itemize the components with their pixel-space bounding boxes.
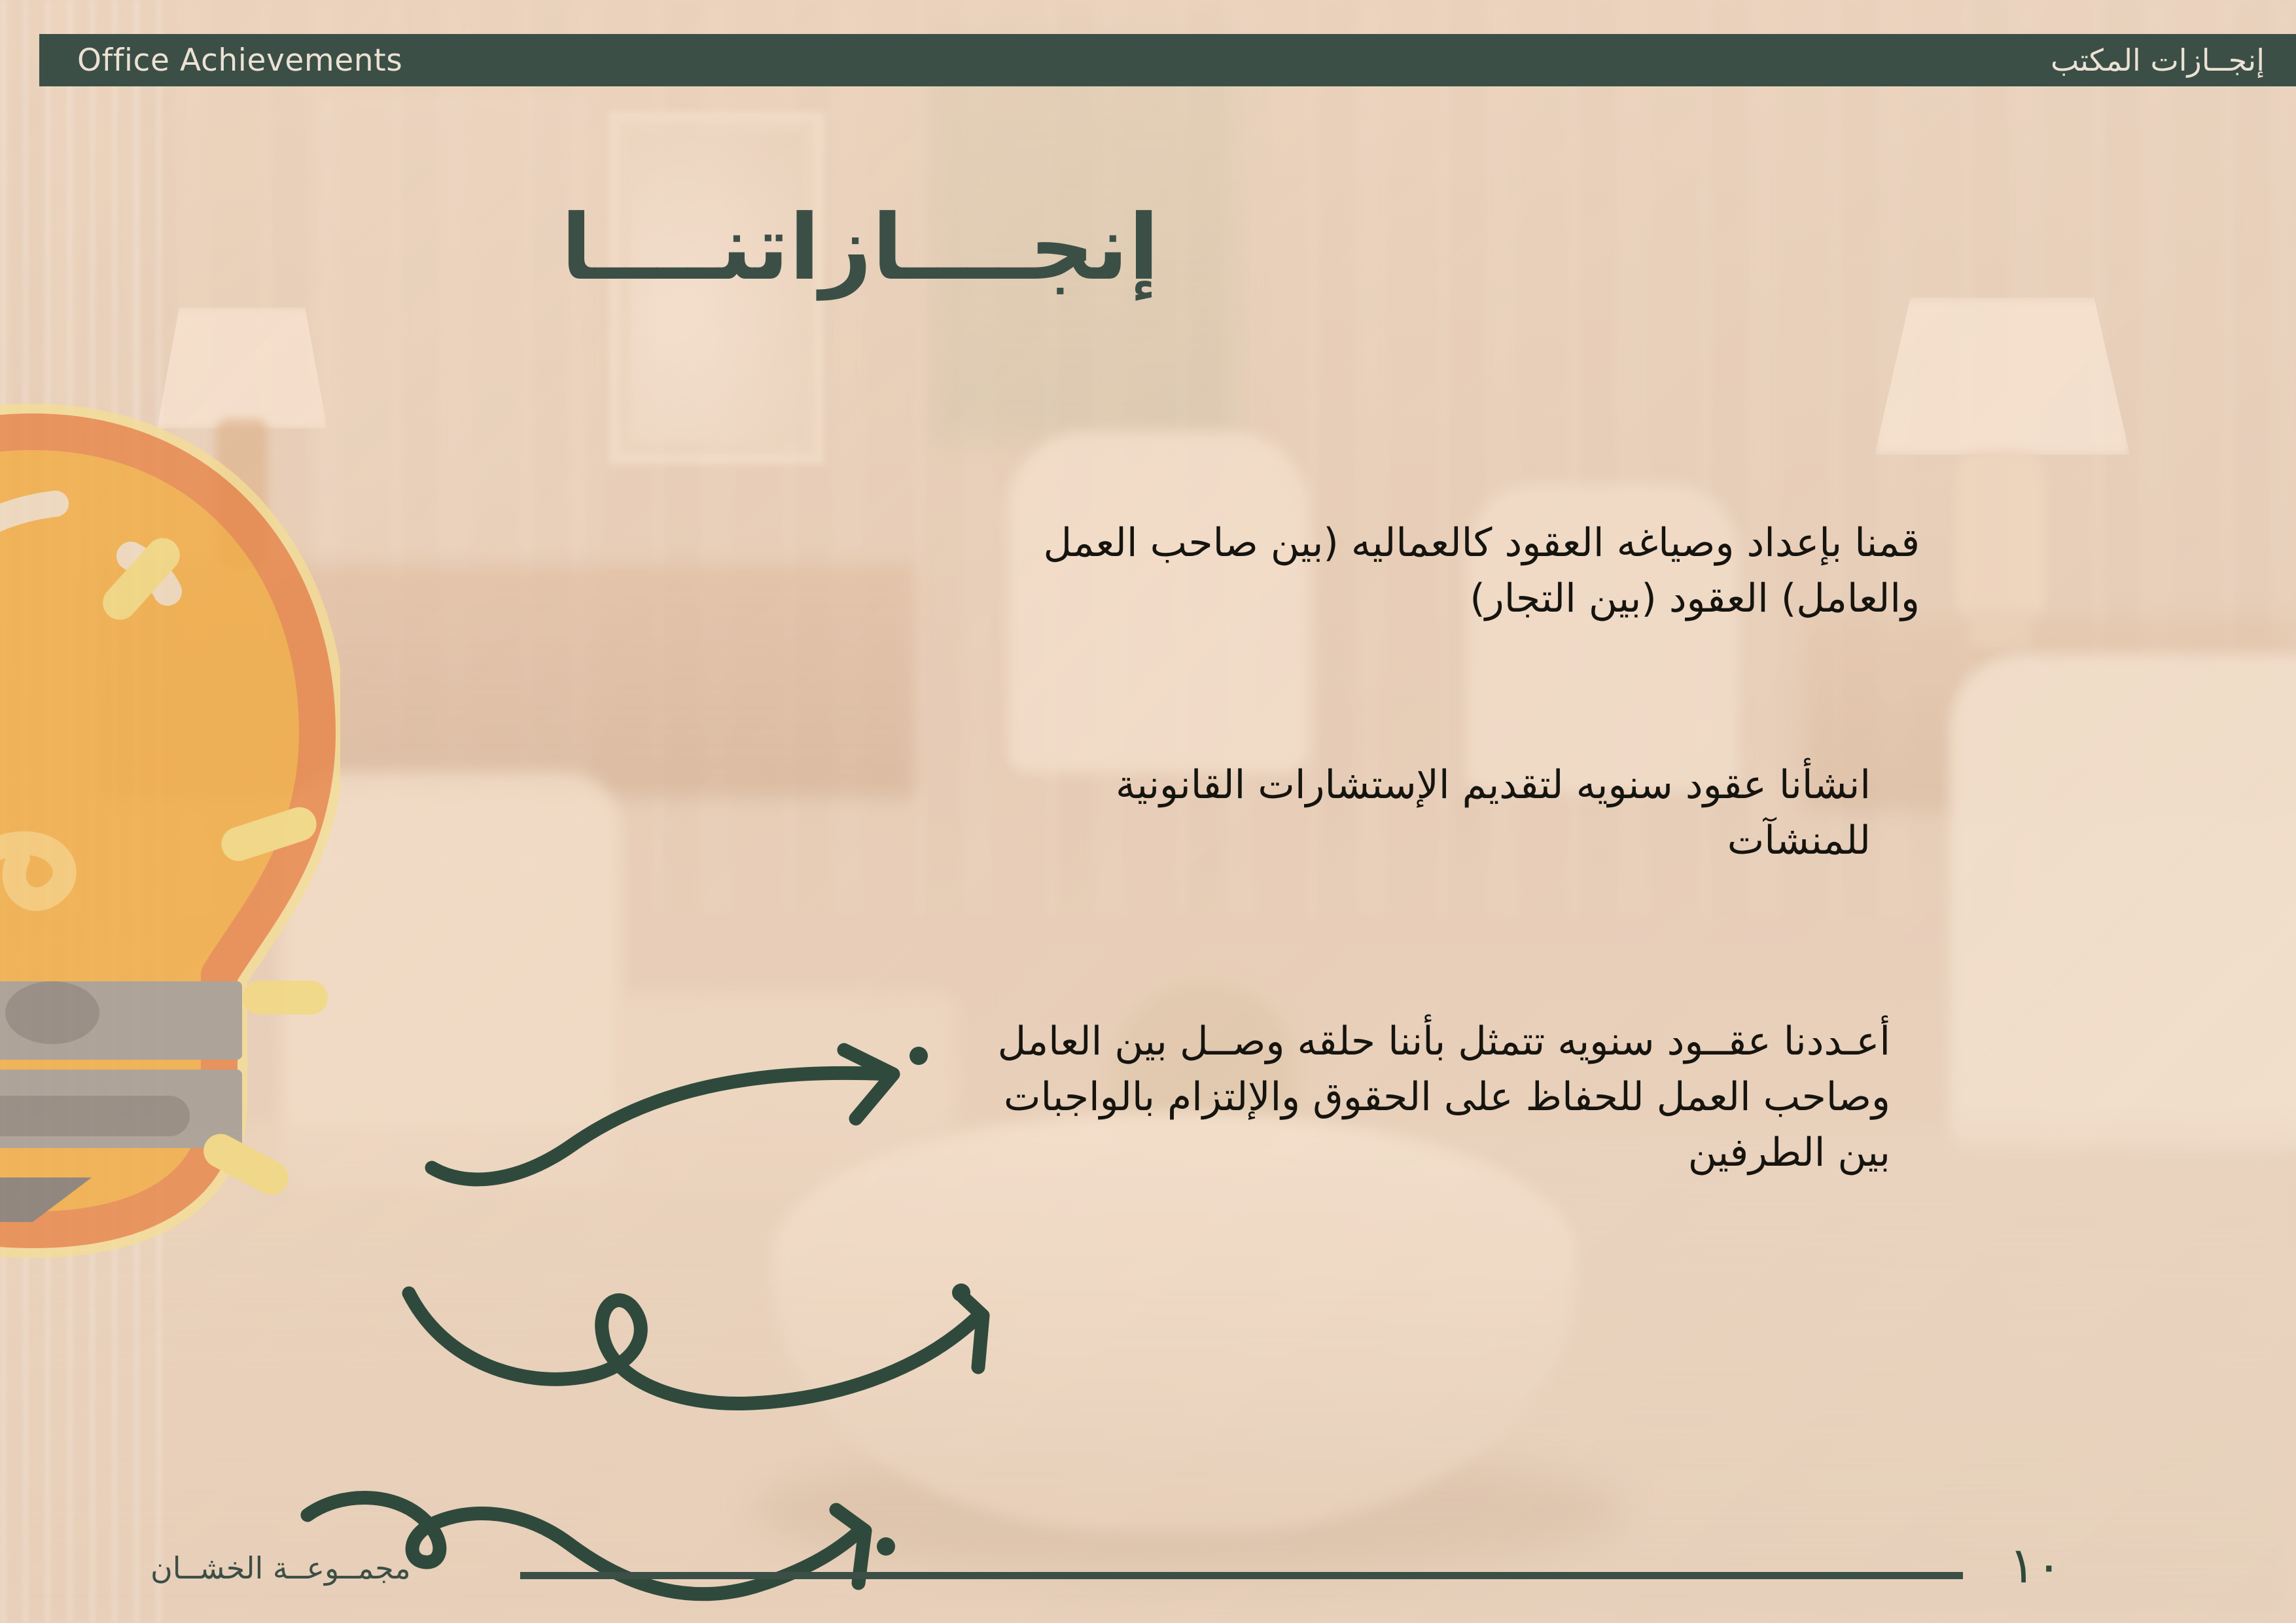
looped-arrow-right-icon [399,1272,1027,1456]
footer-rule [520,1572,1963,1579]
footer-company-name: مجمــوعــة الخشــان [150,1550,411,1586]
header-english-title: Office Achievements [39,43,402,79]
lightbulb-icon [0,393,340,1295]
achievement-text: انشأنا عقود سنويه لتقديم الإستشارات القا… [1007,758,1871,869]
header-arabic-title: إنجــازات المكتب [2051,43,2296,78]
achievement-text: أعـددنا عقــود سنويه تتمثل بأننا حلقه وص… [974,1014,1890,1181]
curved-arrow-right-icon [419,1034,942,1191]
slide-canvas: Office Achievements إنجــازات المكتب إنج… [0,0,2296,1623]
page-title: إنجــــازاتنــــا [0,203,2296,293]
page-number: ١٠ [2009,1536,2062,1594]
page-title-text: إنجــــازاتنــــا [561,195,1735,300]
header-bar: Office Achievements إنجــازات المكتب [39,34,2296,86]
achievement-text: قمنا بإعداد وصياغه العقود كالعماليه (بين… [971,515,1920,627]
